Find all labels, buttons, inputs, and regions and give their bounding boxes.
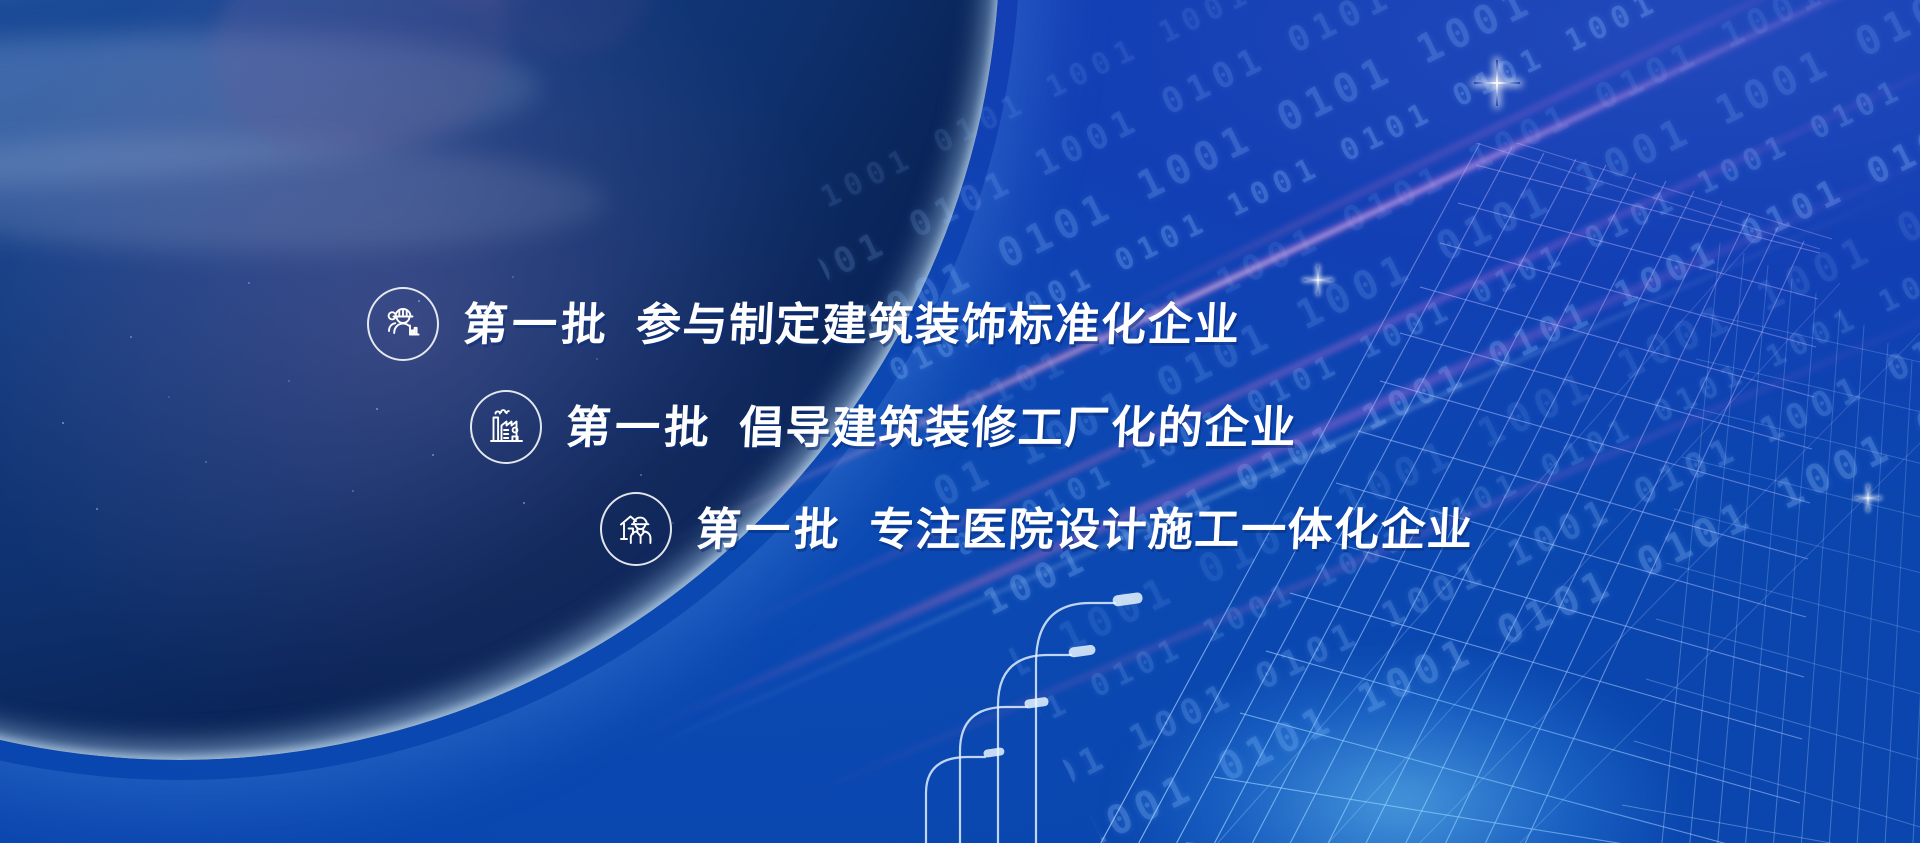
banner-stage: 1001 0101 1001 0101 1001 1001 0101 1001 …: [0, 0, 1920, 843]
headline-body-1: 参与制定建筑装饰标准化企业: [635, 302, 1242, 347]
headline-list: 第一批 参与制定建筑装饰标准化企业: [0, 0, 1920, 843]
worker-chart-icon: [367, 287, 439, 361]
headline-lead-1: 第一批: [462, 302, 611, 347]
headline-body-2: 倡导建筑装修工厂化的企业: [738, 405, 1298, 450]
headline-text-2: 第一批 倡导建筑装修工厂化的企业: [565, 405, 1298, 450]
headline-text-3: 第一批 专注医院设计施工一体化企业: [695, 507, 1475, 552]
headline-body-3: 专注医院设计施工一体化企业: [868, 507, 1475, 552]
worker-house-icon: [600, 492, 672, 566]
headline-lead-2: 第一批: [565, 405, 714, 450]
factory-icon: [470, 390, 542, 464]
headline-row-2: 第一批 倡导建筑装修工厂化的企业: [470, 390, 1297, 464]
headline-lead-3: 第一批: [695, 507, 844, 552]
headline-row-1: 第一批 参与制定建筑装饰标准化企业: [367, 287, 1241, 361]
headline-text-1: 第一批 参与制定建筑装饰标准化企业: [462, 302, 1242, 347]
headline-row-3: 第一批 专注医院设计施工一体化企业: [600, 492, 1474, 566]
